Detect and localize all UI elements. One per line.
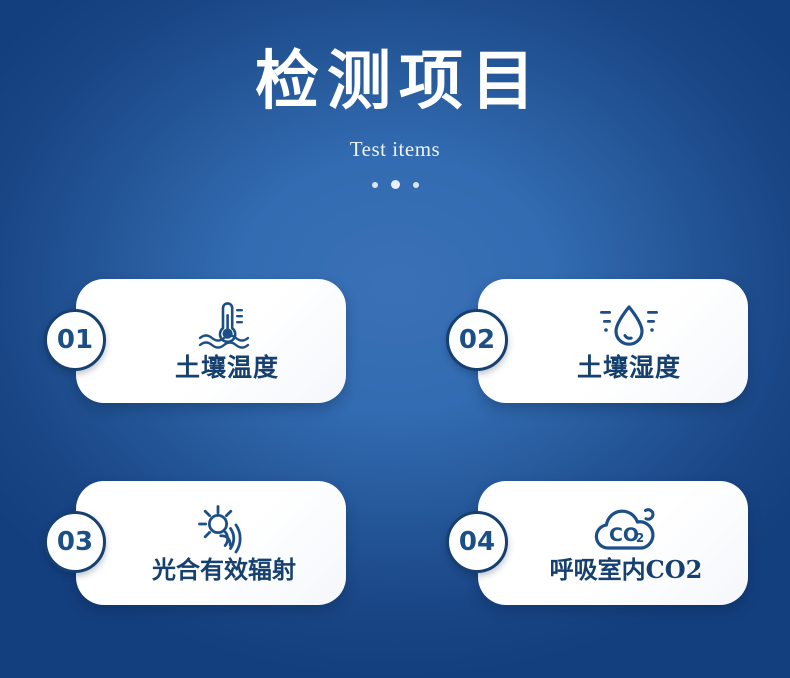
card-content: 土壤湿度: [518, 279, 740, 403]
sun-radiation-icon: [191, 502, 257, 554]
card-content: 土壤温度: [116, 279, 338, 403]
dot-middle: [391, 180, 400, 189]
page-title: 检测项目: [0, 46, 790, 118]
card-number-badge: 03: [44, 511, 106, 573]
card-content: CO 2 呼吸室内CO2: [512, 481, 740, 605]
card-number-badge: 04: [446, 511, 508, 573]
card-number-badge: 01: [44, 309, 106, 371]
test-item-card-01[interactable]: 01 土壤温度: [76, 279, 346, 403]
card-label: 呼吸室内CO2: [550, 555, 703, 585]
test-items-poster: 检测项目 Test items 01: [0, 0, 790, 678]
dot-left: [372, 182, 378, 188]
card-label: 土壤温度: [175, 353, 279, 383]
test-item-card-03[interactable]: 03 光合有效辐射: [76, 481, 346, 605]
card-label: 光合有效辐射: [152, 555, 296, 585]
cloud-co2-icon: CO 2: [590, 502, 662, 554]
test-item-card-02[interactable]: 02 土壤湿度: [478, 279, 748, 403]
dot-right: [413, 182, 419, 188]
svg-text:2: 2: [636, 531, 644, 545]
card-number-badge: 02: [446, 309, 508, 371]
water-droplet-icon: [597, 300, 661, 352]
card-label: 土壤湿度: [577, 353, 681, 383]
thermometer-water-icon: [195, 300, 259, 352]
decorative-dots: [0, 180, 790, 189]
svg-text:CO: CO: [609, 524, 639, 546]
page-subtitle: Test items: [0, 136, 790, 162]
poster-header: 检测项目 Test items: [0, 46, 790, 189]
test-item-card-04[interactable]: 04 CO 2 呼吸室内CO2: [478, 481, 748, 605]
cards-grid: 01 土壤温度 02: [0, 279, 790, 619]
card-content: 光合有效辐射: [110, 481, 338, 605]
